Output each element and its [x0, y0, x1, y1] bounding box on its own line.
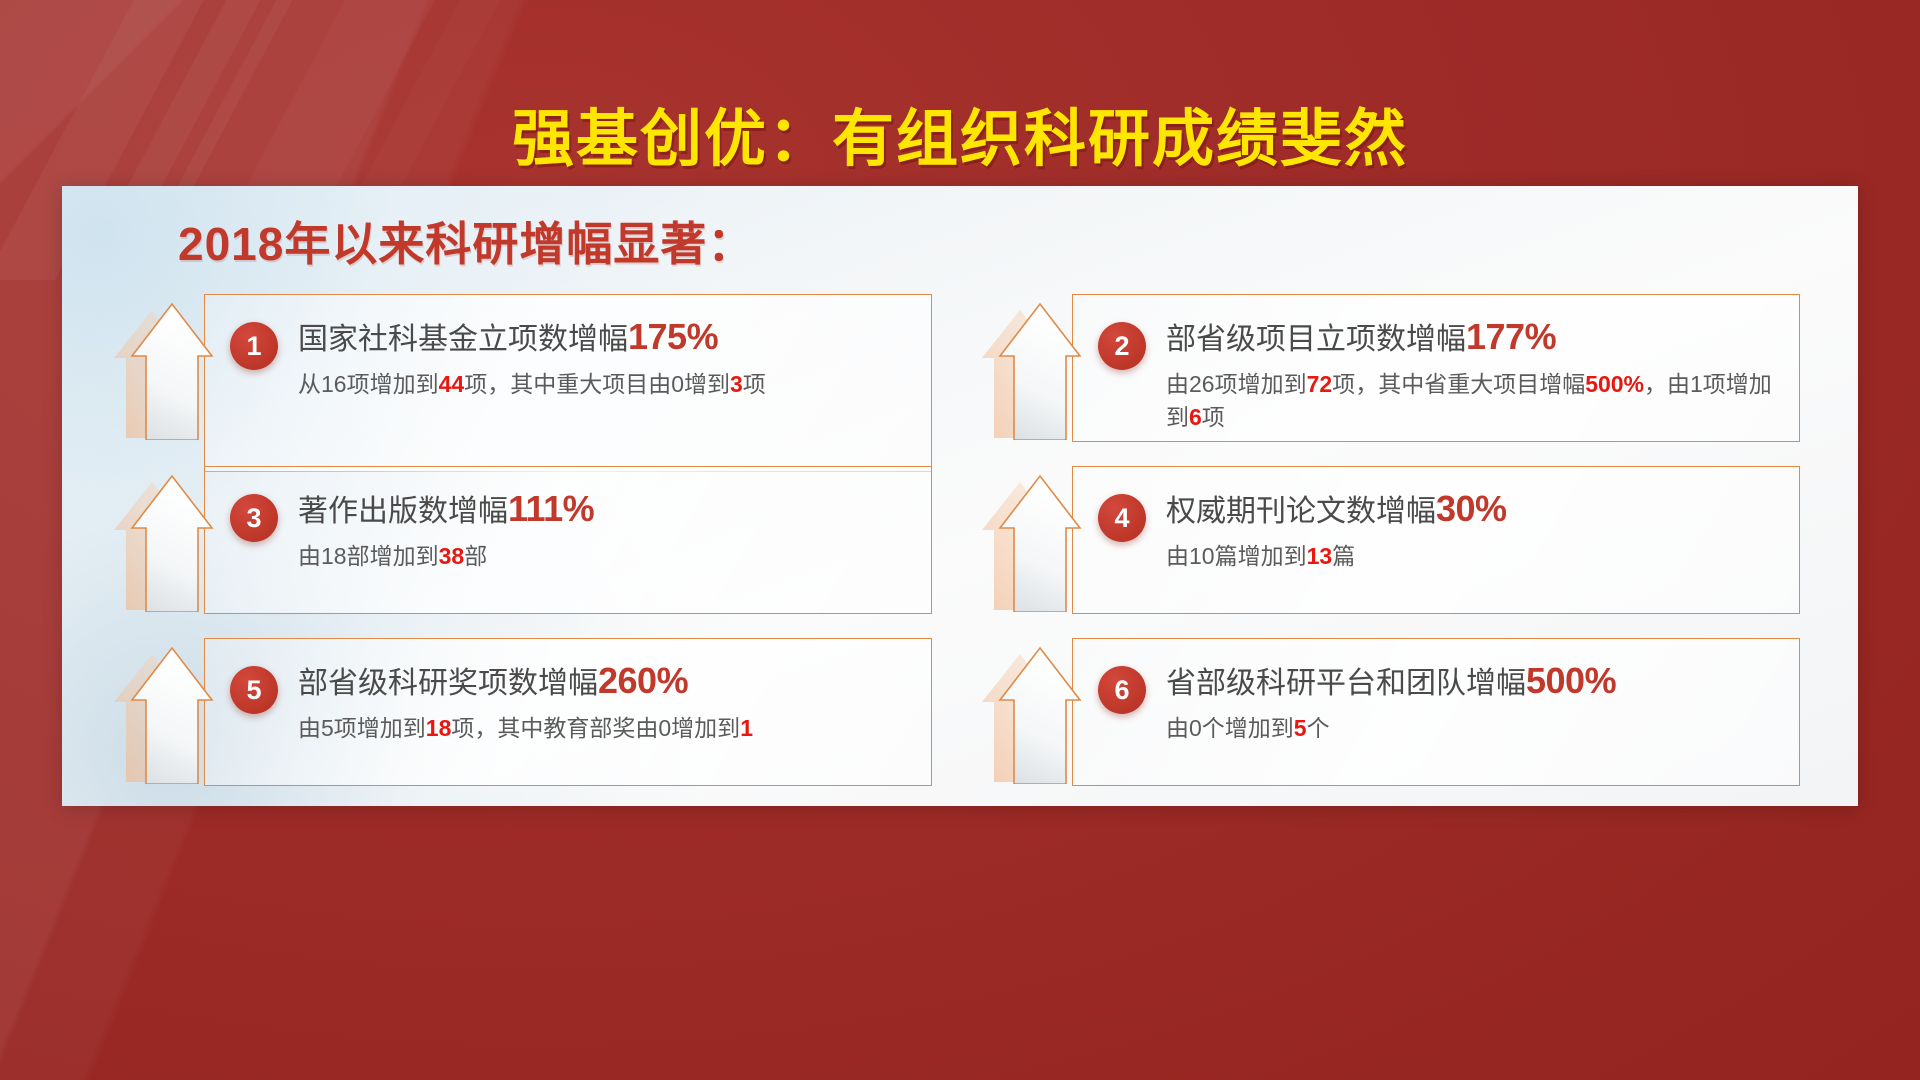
- stat-detail-text: 个: [1307, 715, 1330, 741]
- stat-detail-highlight: 72: [1307, 371, 1333, 397]
- slide-title: 强基创优：有组织科研成绩斐然: [0, 104, 1920, 175]
- slide-root: 强基创优：有组织科研成绩斐然 2018年以来科研增幅显著： 1国家: [0, 0, 1920, 1080]
- stat-detail-highlight: 3: [730, 371, 743, 397]
- stat-detail-text: 项: [743, 371, 766, 397]
- stat-detail-text: 项: [1202, 404, 1225, 430]
- stat-card: 2部省级项目立项数增幅177%由26项增加到72项，其中省重大项目增幅500%，…: [980, 294, 1800, 442]
- stat-detail-text: 项，其中教育部奖由0增加到: [451, 715, 740, 741]
- stat-card-headline: 部省级项目立项数增幅177%: [1166, 314, 1782, 360]
- stat-card-headline: 部省级科研奖项数增幅260%: [298, 658, 914, 704]
- stat-detail-highlight: 13: [1307, 543, 1333, 569]
- up-arrow-icon: [112, 298, 216, 440]
- stat-card-percent-value: 175%: [628, 316, 718, 357]
- stat-card-detail: 由10篇增加到13篇: [1166, 540, 1782, 573]
- panel-subtitle: 2018年以来科研增幅显著：: [178, 208, 754, 274]
- stat-card-headline-text: 著作出版数增幅: [298, 495, 508, 528]
- stat-card-number-badge: 3: [230, 494, 278, 542]
- up-arrow-icon: [980, 470, 1084, 612]
- stat-card: 1国家社科基金立项数增幅175%从16项增加到44项，其中重大项目由0增到3项: [112, 294, 932, 472]
- stat-detail-highlight: 38: [439, 543, 465, 569]
- stat-card-percent-value: 500%: [1526, 660, 1616, 701]
- stat-card-detail: 由18部增加到38部: [298, 540, 914, 573]
- stat-card-percent-value: 260%: [598, 660, 688, 701]
- stat-card: 4权威期刊论文数增幅30%由10篇增加到13篇: [980, 466, 1800, 614]
- stat-card-percent-value: 30%: [1436, 488, 1507, 529]
- stat-card-body: 著作出版数增幅111%由18部增加到38部: [298, 486, 914, 573]
- stat-card-detail: 由26项增加到72项，其中省重大项目增幅500%，由1项增加到6项: [1166, 368, 1782, 435]
- stat-card-headline-text: 权威期刊论文数增幅: [1166, 495, 1436, 528]
- content-panel: 2018年以来科研增幅显著： 1国家社科基金立项数增幅175%从16项增加到44…: [62, 186, 1858, 806]
- stat-card-headline-text: 部省级科研奖项数增幅: [298, 667, 598, 700]
- stat-card: 6省部级科研平台和团队增幅500%由0个增加到5个: [980, 638, 1800, 786]
- stats-grid: 1国家社科基金立项数增幅175%从16项增加到44项，其中重大项目由0增到3项 …: [102, 294, 1818, 794]
- stat-detail-highlight: 18: [426, 715, 452, 741]
- stat-card-headline-text: 部省级项目立项数增幅: [1166, 323, 1466, 356]
- stat-detail-highlight: 500%: [1585, 371, 1644, 397]
- stat-card-headline-text: 国家社科基金立项数增幅: [298, 323, 628, 356]
- stat-card-number-badge: 2: [1098, 322, 1146, 370]
- stat-detail-text: 到: [707, 371, 730, 397]
- up-arrow-icon: [112, 642, 216, 784]
- stat-card-headline-text: 省部级科研平台和团队增幅: [1166, 667, 1526, 700]
- up-arrow-icon: [980, 298, 1084, 440]
- stat-card-body: 国家社科基金立项数增幅175%从16项增加到44项，其中重大项目由0增到3项: [298, 314, 914, 401]
- stat-card-number-badge: 4: [1098, 494, 1146, 542]
- stat-card-number-badge: 1: [230, 322, 278, 370]
- stat-card-headline: 权威期刊论文数增幅30%: [1166, 486, 1782, 532]
- stat-detail-highlight: 5: [1294, 715, 1307, 741]
- stat-card: 3著作出版数增幅111%由18部增加到38部: [112, 466, 932, 614]
- stat-card-body: 省部级科研平台和团队增幅500%由0个增加到5个: [1166, 658, 1782, 745]
- up-arrow-icon: [112, 470, 216, 612]
- stat-card-number-badge: 5: [230, 666, 278, 714]
- stat-detail-text: 由5项增加到: [298, 715, 426, 741]
- stat-card-detail: 从16项增加到44项，其中重大项目由0增到3项: [298, 368, 914, 401]
- stat-detail-text: 由0个增加到: [1166, 715, 1294, 741]
- stat-card-headline: 著作出版数增幅111%: [298, 486, 914, 532]
- stat-card-number-badge: 6: [1098, 666, 1146, 714]
- stat-card-detail: 由0个增加到5个: [1166, 712, 1782, 745]
- stat-card-detail: 由5项增加到18项，其中教育部奖由0增加到1: [298, 712, 914, 745]
- stat-detail-highlight: 6: [1189, 404, 1202, 430]
- stat-card-headline: 国家社科基金立项数增幅175%: [298, 314, 914, 360]
- stat-detail-highlight: 44: [439, 371, 465, 397]
- stat-detail-text: 部: [464, 543, 487, 569]
- stat-card: 5部省级科研奖项数增幅260%由5项增加到18项，其中教育部奖由0增加到1: [112, 638, 932, 786]
- stat-card-percent-value: 177%: [1466, 316, 1556, 357]
- stat-card-percent-value: 111%: [508, 488, 594, 529]
- stat-detail-text: 项，其中重大项目由0增: [464, 371, 707, 397]
- stat-card-body: 权威期刊论文数增幅30%由10篇增加到13篇: [1166, 486, 1782, 573]
- stat-card-body: 部省级科研奖项数增幅260%由5项增加到18项，其中教育部奖由0增加到1: [298, 658, 914, 745]
- stat-detail-highlight: 1: [740, 715, 753, 741]
- stat-card-headline: 省部级科研平台和团队增幅500%: [1166, 658, 1782, 704]
- stat-detail-text: 篇: [1332, 543, 1355, 569]
- stat-detail-text: 由26项增加到: [1166, 371, 1307, 397]
- stat-detail-text: 由10篇增加到: [1166, 543, 1307, 569]
- stat-detail-text: 由18部增加到: [298, 543, 439, 569]
- stat-detail-text: 项，其中省重大项目增幅: [1332, 371, 1585, 397]
- stat-card-body: 部省级项目立项数增幅177%由26项增加到72项，其中省重大项目增幅500%，由…: [1166, 314, 1782, 435]
- stat-detail-text: 从16项增加到: [298, 371, 439, 397]
- up-arrow-icon: [980, 642, 1084, 784]
